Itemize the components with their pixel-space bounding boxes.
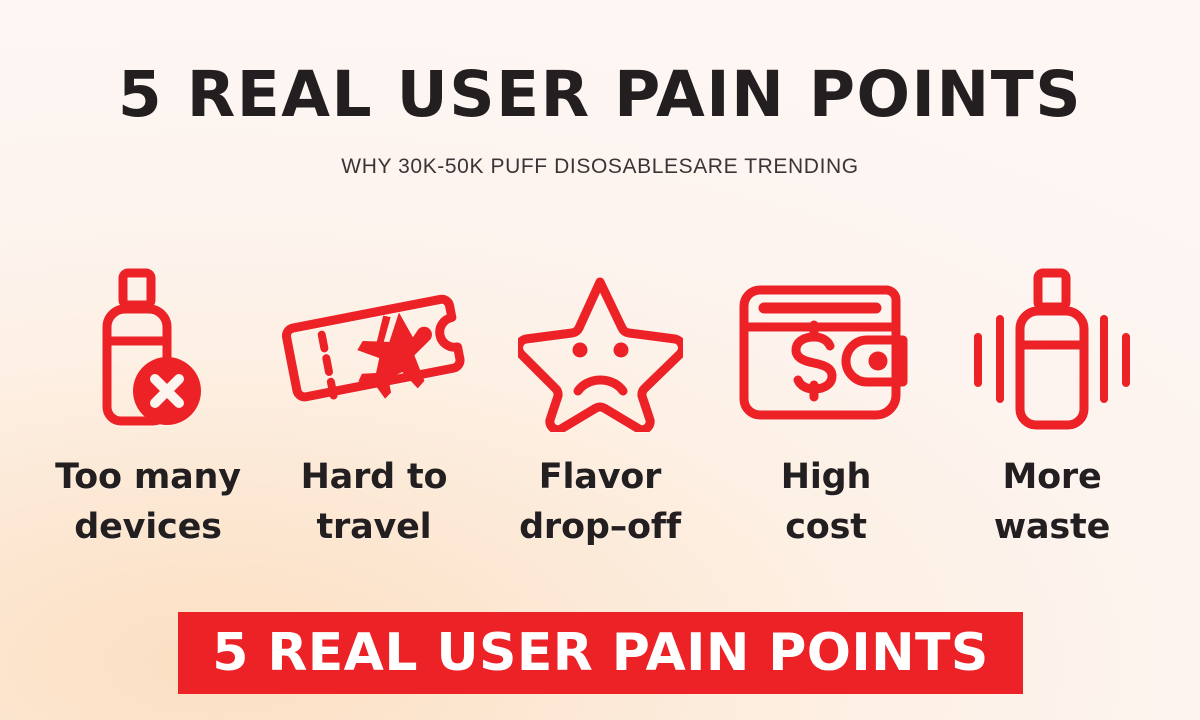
page-subtitle: WHY 30K-50K PUFF DISOSABLESARE TRENDING [0,132,1200,180]
pain-point-label-4: High cost [781,442,871,552]
pain-point-item-1: Too many devices [40,262,256,552]
pain-point-item-5: More waste [944,262,1160,552]
pain-point-label-3: Flavor drop–off [519,442,681,552]
sad-star-icon [518,262,683,442]
label-line-2: cost [785,507,867,547]
pain-point-label-2: Hard to travel [301,442,448,552]
page-title: 5 REAL USER PAIN POINTS [0,0,1200,132]
wallet-dollar-icon [734,262,919,442]
label-line-1: High [781,457,871,497]
label-line-2: waste [994,507,1110,547]
bottom-banner-text: 5 REAL USER PAIN POINTS [212,624,989,682]
infographic-poster: 5 REAL USER PAIN POINTS WHY 30K-50K PUFF… [0,0,1200,720]
pain-point-item-2: Hard to travel [266,262,482,552]
label-line-2: devices [74,507,222,547]
vape-device-waste-icon [972,262,1132,442]
label-line-1: Flavor [539,457,661,497]
pain-point-label-1: Too many devices [55,442,241,552]
label-line-2: travel [317,507,432,547]
vape-device-blocked-icon [83,262,213,442]
label-line-2: drop–off [519,507,681,547]
plane-ticket-icon [279,262,469,442]
label-line-1: Too many [55,457,241,497]
pain-points-row: Too many devices [40,262,1160,572]
bottom-banner: 5 REAL USER PAIN POINTS [178,612,1023,694]
header-block: 5 REAL USER PAIN POINTS WHY 30K-50K PUFF… [0,0,1200,180]
label-line-1: More [1002,457,1101,497]
label-line-1: Hard to [301,457,448,497]
pain-point-item-4: High cost [718,262,934,552]
pain-point-label-5: More waste [994,442,1110,552]
pain-point-item-3: Flavor drop–off [492,262,708,552]
